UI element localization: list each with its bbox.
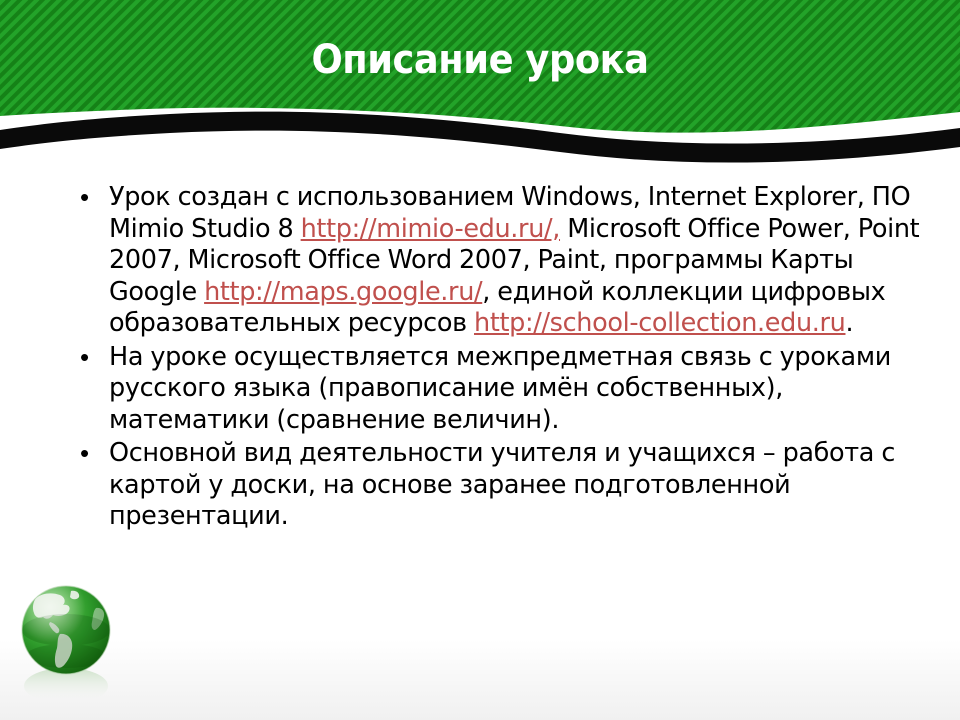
bottom-shading (0, 640, 960, 720)
hyperlink[interactable]: http://school-collection.edu.ru (474, 308, 845, 338)
bullet-marker-icon: • (72, 342, 109, 374)
list-item: • Основной вид деятельности учителя и уч… (72, 438, 940, 533)
slide-body: • Урок создан с использованием Windows, … (72, 182, 940, 535)
bullet-marker-icon: • (72, 182, 109, 214)
bullet-text-activity: Основной вид деятельности учителя и учащ… (109, 438, 940, 533)
list-item: • Урок создан с использованием Windows, … (72, 182, 940, 340)
globe-icon (8, 578, 136, 716)
bullet-marker-icon: • (72, 438, 109, 470)
header-wave-banner (0, 0, 960, 185)
text-run: . (845, 308, 853, 338)
hyperlink[interactable]: http://mimio-edu.ru/, (301, 214, 560, 244)
presentation-slide: Описание урока • Урок создан с использов… (0, 0, 960, 720)
bullet-text-interdisciplinary: На уроке осуществляется межпредметная св… (109, 342, 940, 437)
text-run: Основной вид деятельности учителя и учащ… (109, 438, 895, 531)
hyperlink[interactable]: http://maps.google.ru/ (204, 277, 482, 307)
page-title: Описание урока (38, 36, 921, 84)
list-item: • На уроке осуществляется межпредметная … (72, 342, 940, 437)
bullet-text-tools: Урок создан с использованием Windows, In… (109, 182, 940, 340)
text-run: На уроке осуществляется межпредметная св… (109, 342, 891, 435)
